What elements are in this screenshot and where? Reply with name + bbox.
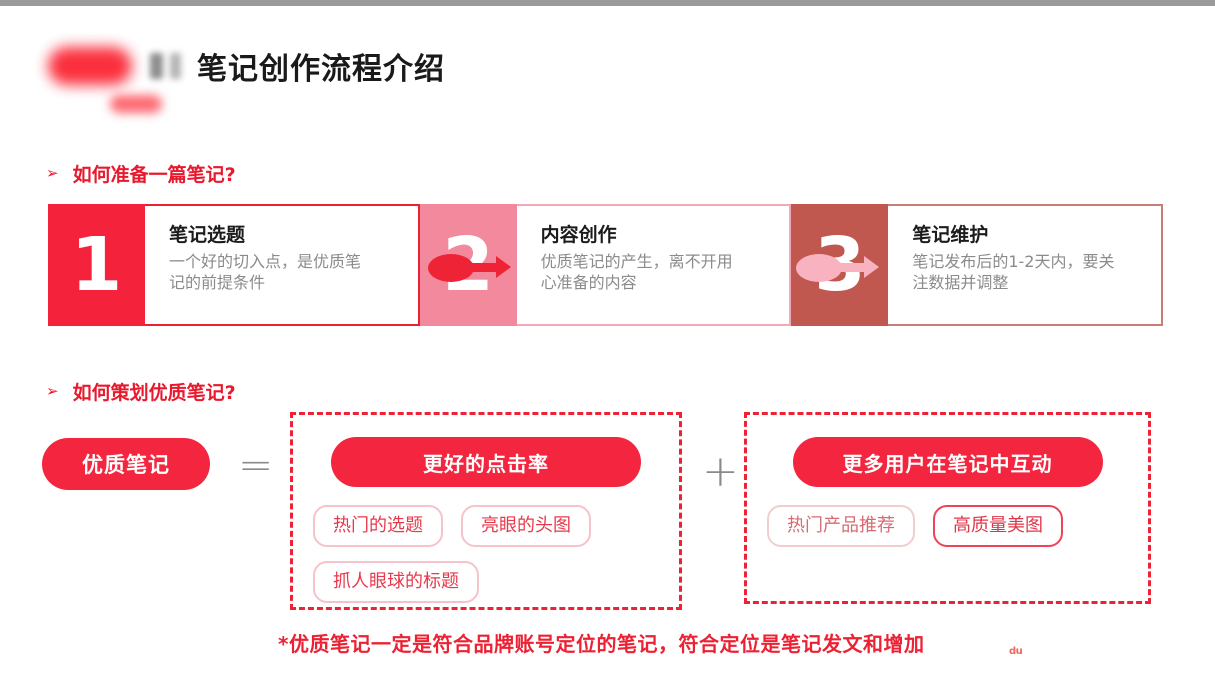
page-header: 笔记创作流程介绍: [48, 38, 445, 94]
watermark-du-label: du: [1009, 646, 1022, 657]
tag-eyecatching-cover[interactable]: 亮眼的头图: [461, 505, 591, 547]
step-number-1: 1: [48, 204, 145, 326]
section-heading-plan-label: 如何策划优质笔记?: [73, 378, 236, 405]
arrow-bullet-icon: ➢: [46, 384, 59, 399]
blurred-brand-text-icon: [150, 53, 181, 79]
flow-step-2[interactable]: 2 内容创作 优质笔记的产生，离不开用心准备的内容: [420, 204, 792, 326]
formula-subject-pill[interactable]: 优质笔记: [42, 438, 210, 490]
step-title-3: 笔记维护: [912, 220, 1145, 247]
tag-row-interaction-1: 热门产品推荐 高质量美图: [767, 505, 1128, 547]
equals-sign: =: [238, 444, 273, 486]
step-title-1: 笔记选题: [169, 220, 402, 247]
step-body-1: 笔记选题 一个好的切入点，是优质笔记的前提条件: [145, 204, 420, 326]
step-body-3: 笔记维护 笔记发布后的1-2天内，要关注数据并调整: [888, 204, 1163, 326]
formula-group-clickrate: 更好的点击率 热门的选题 亮眼的头图 抓人眼球的标题: [290, 412, 682, 610]
tag-row-clickrate-2: 抓人眼球的标题: [313, 561, 659, 603]
tag-row-clickrate-1: 热门的选题 亮眼的头图: [313, 505, 659, 547]
group-pill-clickrate[interactable]: 更好的点击率: [331, 437, 641, 487]
section-heading-prepare-label: 如何准备一篇笔记?: [73, 160, 236, 187]
formula-group-interaction: 更多用户在笔记中互动 热门产品推荐 高质量美图: [744, 412, 1151, 604]
step-number-2: 2: [420, 204, 517, 326]
tag-hot-topic[interactable]: 热门的选题: [313, 505, 443, 547]
step-desc-3: 笔记发布后的1-2天内，要关注数据并调整: [912, 251, 1117, 293]
top-gray-bar: [0, 0, 1215, 6]
process-flow: 1 笔记选题 一个好的切入点，是优质笔记的前提条件 2 内容创作 优质笔记的产生…: [48, 204, 1163, 326]
flow-step-1[interactable]: 1 笔记选题 一个好的切入点，是优质笔记的前提条件: [48, 204, 420, 326]
section-heading-prepare: ➢ 如何准备一篇笔记?: [46, 160, 236, 187]
watermark-handle: @陈晓通: [1042, 624, 1162, 666]
step-title-2: 内容创作: [541, 220, 774, 247]
step-desc-2: 优质笔记的产生，离不开用心准备的内容: [541, 251, 746, 293]
plus-sign: +: [702, 450, 739, 494]
flow-step-3[interactable]: 3 笔记维护 笔记发布后的1-2天内，要关注数据并调整: [791, 204, 1163, 326]
step-number-3: 3: [791, 204, 888, 326]
arrow-bullet-icon: ➢: [46, 166, 59, 181]
section-heading-plan: ➢ 如何策划优质笔记?: [46, 378, 236, 405]
blurred-logo-highlight-icon: [110, 95, 162, 113]
tag-high-quality-image[interactable]: 高质量美图: [933, 505, 1063, 547]
baidu-paw-icon: du: [998, 626, 1036, 664]
quality-note-formula: 优质笔记 = 更好的点击率 热门的选题 亮眼的头图 抓人眼球的标题 + 更多用户…: [42, 412, 1167, 622]
page-title: 笔记创作流程介绍: [197, 44, 445, 88]
step-body-2: 内容创作 优质笔记的产生，离不开用心准备的内容: [517, 204, 792, 326]
tag-hot-product-rec[interactable]: 热门产品推荐: [767, 505, 915, 547]
blurred-red-logo-icon: [48, 47, 132, 85]
tag-attention-title[interactable]: 抓人眼球的标题: [313, 561, 479, 603]
group-pill-interaction[interactable]: 更多用户在笔记中互动: [793, 437, 1103, 487]
watermark: du @陈晓通: [998, 624, 1162, 666]
step-desc-1: 一个好的切入点，是优质笔记的前提条件: [169, 251, 374, 293]
